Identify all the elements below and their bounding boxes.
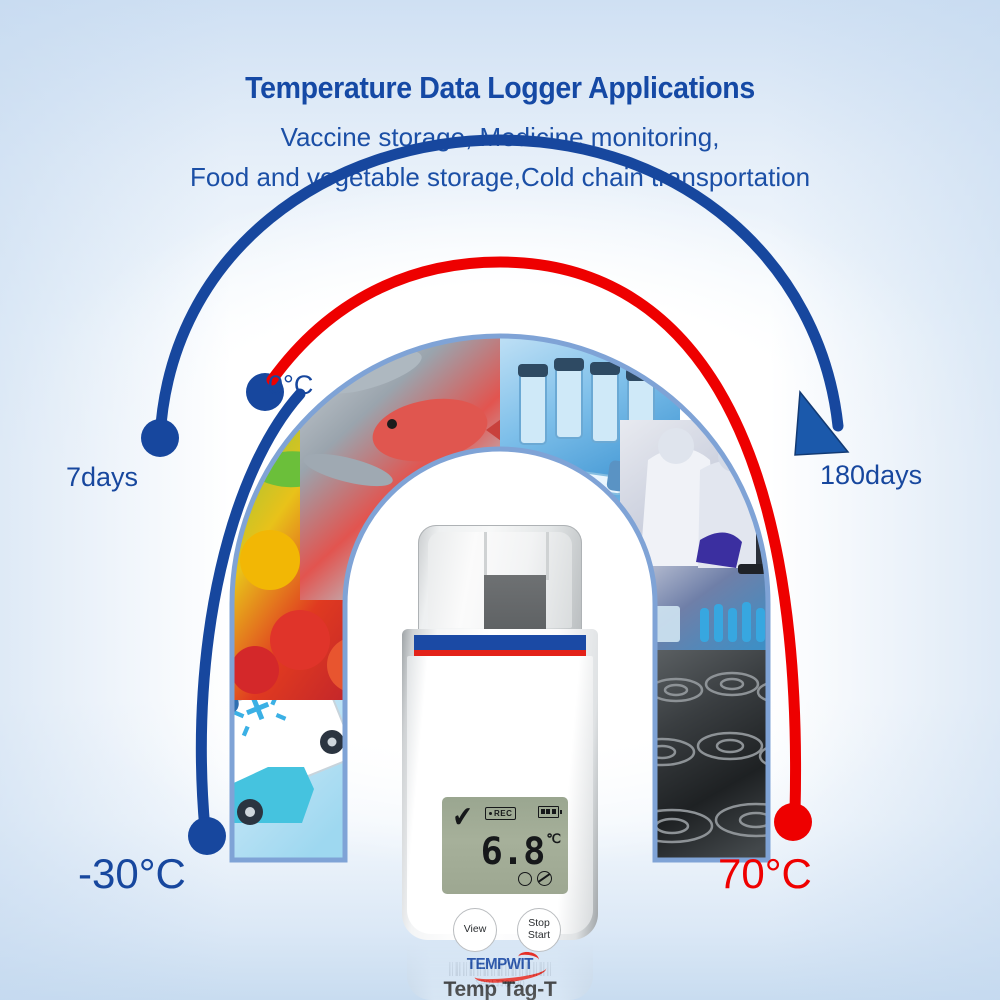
rec-label: REC xyxy=(494,809,512,818)
rec-indicator: REC xyxy=(485,807,516,820)
label-180days: 180days xyxy=(820,460,922,491)
label-70c: 70°C xyxy=(718,850,812,898)
device-face: ✔ REC 6.8℃ View Stop S xyxy=(407,656,593,934)
label-7days: 7days xyxy=(66,462,138,493)
view-button-label: View xyxy=(464,924,487,936)
lcd-status-icons xyxy=(518,871,552,886)
temperature-reading: 6.8℃ xyxy=(442,833,560,870)
label-minus-30c: -30°C xyxy=(78,850,186,898)
battery-icon xyxy=(538,806,559,818)
temp-max-dot xyxy=(774,803,812,841)
device-cap xyxy=(418,525,582,637)
battery-bars xyxy=(541,809,556,814)
temperature-value: 6.8 xyxy=(481,830,545,873)
reflection-serial: 2507110060 xyxy=(402,978,598,988)
rec-dot-icon xyxy=(489,812,492,815)
reflection-barcode xyxy=(449,962,551,976)
data-logger-device: ✔ REC 6.8℃ View Stop S xyxy=(402,525,598,940)
poster-canvas: Temperature Data Logger Applications Vac… xyxy=(0,0,1000,1000)
device-blue-stripe xyxy=(414,635,586,650)
usb-connector xyxy=(484,575,546,637)
device-cap-rib-right xyxy=(546,532,549,580)
checkmark-icon: ✔ xyxy=(453,803,473,833)
device-reflection: 2507110060 xyxy=(402,940,598,1000)
lcd-screen: ✔ REC 6.8℃ xyxy=(442,797,568,894)
no-alarm-icon xyxy=(537,871,552,886)
temperature-unit: ℃ xyxy=(546,832,560,847)
circle-icon xyxy=(518,872,532,886)
duration-start-dot xyxy=(141,419,179,457)
temp-min-dot xyxy=(188,817,226,855)
device-cap-rib-left xyxy=(484,532,487,580)
label-0c: 0°C xyxy=(268,370,313,401)
